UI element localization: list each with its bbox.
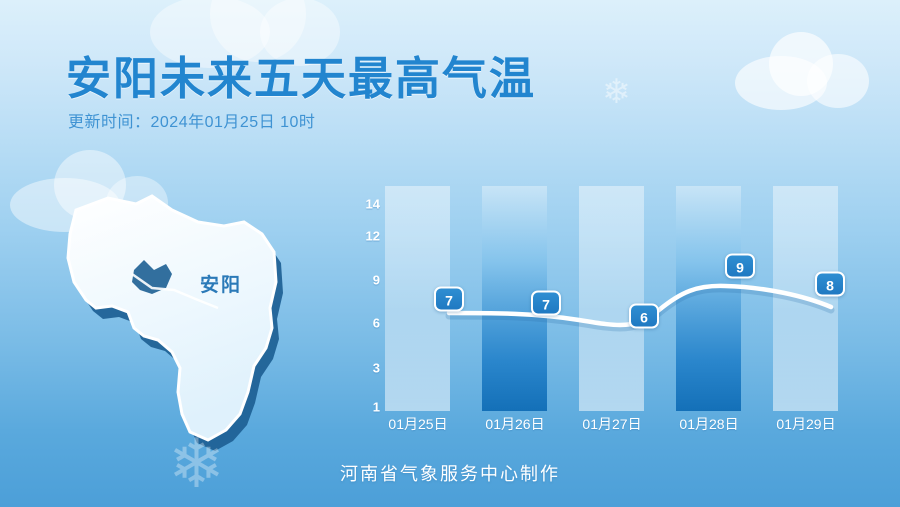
y-tick-3: 6 bbox=[350, 316, 380, 331]
anyang-map: 安阳 bbox=[48, 178, 318, 468]
update-time: 更新时间：2024年01月25日 10时 bbox=[68, 108, 315, 132]
y-axis: 14 12 9 6 3 1 bbox=[350, 186, 380, 411]
x-label-4: 01月29日 bbox=[766, 414, 846, 434]
temperature-chart: 14 12 9 6 3 1 7 7 6 9 8 01月25日 01月26日 01… bbox=[350, 186, 890, 431]
x-label-0: 01月25日 bbox=[378, 414, 458, 434]
y-tick-2: 9 bbox=[350, 273, 380, 288]
footer-credit: 河南省气象服务中心制作 bbox=[0, 460, 900, 486]
value-badge-0: 7 bbox=[434, 287, 464, 312]
value-badge-3: 9 bbox=[725, 254, 755, 279]
map-shape-svg bbox=[48, 178, 318, 468]
value-badge-4: 8 bbox=[815, 272, 845, 297]
x-label-2: 01月27日 bbox=[572, 414, 652, 434]
value-badge-2: 6 bbox=[629, 304, 659, 329]
y-tick-5: 1 bbox=[350, 400, 380, 415]
page-title: 安阳未来五天最高气温 bbox=[66, 42, 536, 107]
value-badge-1: 7 bbox=[531, 291, 561, 316]
map-landmass bbox=[68, 196, 276, 440]
y-tick-4: 3 bbox=[350, 361, 380, 376]
x-label-1: 01月26日 bbox=[475, 414, 555, 434]
x-label-3: 01月28日 bbox=[669, 414, 749, 434]
cloud-icon-top-right bbox=[735, 32, 870, 110]
y-tick-1: 12 bbox=[350, 229, 380, 244]
snowflake-icon-top: ❄ bbox=[602, 75, 631, 109]
map-region-label: 安阳 bbox=[200, 270, 242, 297]
y-tick-0: 14 bbox=[350, 197, 380, 212]
x-axis: 01月25日 01月26日 01月27日 01月28日 01月29日 bbox=[385, 414, 890, 436]
weather-infographic: ❄ 安阳未来五天最高气温 更新时间：2024年01月25日 10时 安阳 ❄ bbox=[0, 0, 900, 507]
